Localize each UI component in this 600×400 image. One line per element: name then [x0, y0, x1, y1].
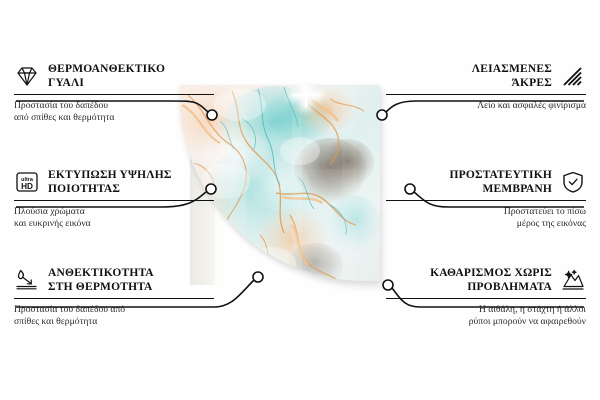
- feature-title: ΘΕΡΜΟΑΝΘΕΚΤΙΚΟ ΓΥΑΛΙ: [48, 62, 165, 90]
- subtitle-line-2: από σπίθες και θερμότητα: [14, 112, 114, 123]
- polished-edges-icon: [560, 64, 586, 88]
- feature-title: ΚΑΘΑΡΙΣΜΟΣ ΧΩΡΙΣ ΠΡΟΒΛΗΜΑΤΑ: [430, 266, 552, 294]
- subtitle-line-1: Η αιθάλη, η στάχτη ή άλλοι: [479, 304, 586, 315]
- feature-subtitle: Προστασία του δαπέδου από σπίθες και θερ…: [14, 304, 214, 327]
- svg-text:HD: HD: [21, 182, 33, 191]
- title-line-2: ΜΕΜΒΡΑΝΗ: [482, 183, 552, 195]
- easy-clean-icon: [560, 268, 586, 292]
- feature-title: ΑΝΘΕΚΤΙΚΟΤΗΤΑ ΣΤΗ ΘΕΡΜΟΤΗΤΑ: [48, 266, 154, 294]
- subtitle-line-1: Προστατεύει το πίσω: [504, 206, 586, 217]
- feature-header: ultra HD ΕΚΤΥΠΩΣΗ ΥΨΗΛΗΣ ΠΟΙΟΤΗΤΑΣ: [14, 168, 214, 196]
- title-line-2: ΓΥΑΛΙ: [48, 77, 84, 89]
- divider: [14, 200, 214, 201]
- feature-subtitle: Πλούσια χρώματα και ευκρινής εικόνα: [14, 206, 214, 229]
- feature-title: ΠΡΟΣΤΑΤΕΥΤΙΚΗ ΜΕΜΒΡΑΝΗ: [450, 168, 552, 196]
- title-line-1: ΚΑΘΑΡΙΣΜΟΣ ΧΩΡΙΣ: [430, 267, 552, 279]
- title-line-1: ΕΚΤΥΠΩΣΗ ΥΨΗΛΗΣ: [48, 169, 172, 181]
- diamond-icon: [14, 64, 40, 88]
- feature-header: ΑΝΘΕΚΤΙΚΟΤΗΤΑ ΣΤΗ ΘΕΡΜΟΤΗΤΑ: [14, 266, 214, 294]
- feature-high-quality-print: ultra HD ΕΚΤΥΠΩΣΗ ΥΨΗΛΗΣ ΠΟΙΟΤΗΤΑΣ Πλούσ…: [14, 168, 214, 229]
- title-line-1: ΛΕΙΑΣΜΕΝΕΣ: [472, 63, 552, 75]
- divider: [14, 94, 214, 95]
- feature-header: ΘΕΡΜΟΑΝΘΕΚΤΙΚΟ ΓΥΑΛΙ: [14, 62, 214, 90]
- title-line-1: ΘΕΡΜΟΑΝΘΕΚΤΙΚΟ: [48, 63, 165, 75]
- feature-heat-resistant-glass: ΘΕΡΜΟΑΝΘΕΚΤΙΚΟ ΓΥΑΛΙ Προστασία του δαπέδ…: [14, 62, 214, 123]
- divider: [386, 298, 586, 299]
- feature-subtitle: Προστατεύει το πίσω μέρος της εικόνας: [386, 206, 586, 229]
- subtitle-line-1: Λείο και ασφαλές φινίρισμα: [477, 100, 586, 111]
- feature-header: ΠΡΟΣΤΑΤΕΥΤΙΚΗ ΜΕΜΒΡΑΝΗ: [386, 168, 586, 196]
- subtitle-line-2: μέρος της εικόνας: [517, 218, 586, 229]
- title-line-2: ΠΡΟΒΛΗΜΑΤΑ: [467, 281, 552, 293]
- feature-subtitle: Λείο και ασφαλές φινίρισμα: [386, 100, 586, 112]
- divider: [14, 298, 214, 299]
- subtitle-line-2: σπίθες και θερμότητα: [14, 316, 97, 327]
- infographic-stage: ΘΕΡΜΟΑΝΘΕΚΤΙΚΟ ΓΥΑΛΙ Προστασία του δαπέδ…: [0, 0, 600, 400]
- subtitle-line-2: και ευκρινής εικόνα: [14, 218, 91, 229]
- title-line-1: ΠΡΟΣΤΑΤΕΥΤΙΚΗ: [450, 169, 552, 181]
- feature-protective-membrane: ΠΡΟΣΤΑΤΕΥΤΙΚΗ ΜΕΜΒΡΑΝΗ Προστατεύει το πί…: [386, 168, 586, 229]
- title-line-2: ΣΤΗ ΘΕΡΜΟΤΗΤΑ: [48, 281, 153, 293]
- feature-header: ΛΕΙΑΣΜΕΝΕΣ ΆΚΡΕΣ: [386, 62, 586, 90]
- title-line-1: ΑΝΘΕΚΤΙΚΟΤΗΤΑ: [48, 267, 154, 279]
- feature-title: ΛΕΙΑΣΜΕΝΕΣ ΆΚΡΕΣ: [472, 62, 552, 90]
- subtitle-line-1: Προστασία του δαπέδου από: [14, 304, 125, 315]
- feature-subtitle: Η αιθάλη, η στάχτη ή άλλοι ρύποι μπορούν…: [386, 304, 586, 327]
- feature-polished-edges: ΛΕΙΑΣΜΕΝΕΣ ΆΚΡΕΣ Λείο και ασφαλές φινίρι…: [386, 62, 586, 112]
- subtitle-line-1: Πλούσια χρώματα: [14, 206, 85, 217]
- feature-title: ΕΚΤΥΠΩΣΗ ΥΨΗΛΗΣ ΠΟΙΟΤΗΤΑΣ: [48, 168, 172, 196]
- feature-heat-durability: ΑΝΘΕΚΤΙΚΟΤΗΤΑ ΣΤΗ ΘΕΡΜΟΤΗΤΑ Προστασία το…: [14, 266, 214, 327]
- shield-check-icon: [560, 170, 586, 194]
- feature-header: ΚΑΘΑΡΙΣΜΟΣ ΧΩΡΙΣ ΠΡΟΒΛΗΜΑΤΑ: [386, 266, 586, 294]
- subtitle-line-2: ρύποι μπορούν να αφαιρεθούν: [469, 316, 586, 327]
- heat-deflect-icon: [14, 268, 40, 292]
- divider: [386, 94, 586, 95]
- feature-easy-cleaning: ΚΑΘΑΡΙΣΜΟΣ ΧΩΡΙΣ ΠΡΟΒΛΗΜΑΤΑ Η αιθάλη, η …: [386, 266, 586, 327]
- title-line-2: ΠΟΙΟΤΗΤΑΣ: [48, 183, 120, 195]
- feature-subtitle: Προστασία του δαπέδου από σπίθες και θερ…: [14, 100, 214, 123]
- ultra-hd-icon: ultra HD: [14, 170, 40, 194]
- title-line-2: ΆΚΡΕΣ: [512, 77, 552, 89]
- divider: [386, 200, 586, 201]
- subtitle-line-1: Προστασία του δαπέδου: [14, 100, 108, 111]
